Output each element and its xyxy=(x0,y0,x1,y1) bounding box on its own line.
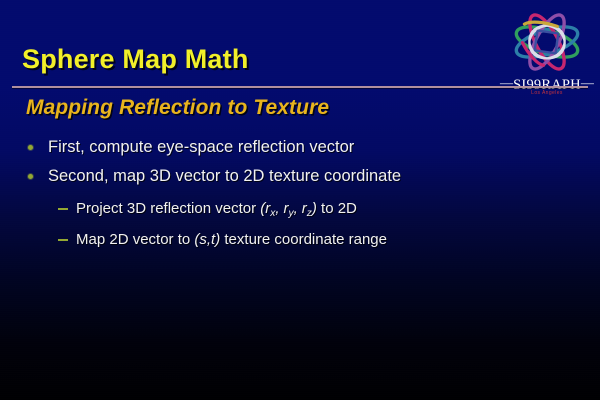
bullet-list: First, compute eye-space reflection vect… xyxy=(0,136,600,255)
bullet-dot-icon xyxy=(28,174,33,179)
sub-bullet-text-pre: Project 3D reflection vector xyxy=(76,200,260,217)
vector-sep-1: , xyxy=(275,200,279,217)
siggraph-location: Los Angeles xyxy=(498,91,596,96)
sub-bullet-item: Map 2D vector to (s,t) texture coordinat… xyxy=(0,229,600,250)
bullet-text: Second, map 3D vector to 2D texture coor… xyxy=(48,167,401,185)
bullet-item: First, compute eye-space reflection vect… xyxy=(0,136,600,158)
bullet-item: Second, map 3D vector to 2D texture coor… xyxy=(0,165,600,187)
siggraph-logo-mark xyxy=(506,6,588,78)
texcoord-notation: (s,t) xyxy=(194,231,220,248)
bullet-dot-icon xyxy=(28,145,33,150)
vector-sep-2: , xyxy=(294,200,298,217)
sub-bullet-text-post: texture coordinate range xyxy=(220,231,387,248)
slide-subtitle: Mapping Reflection to Texture xyxy=(26,96,329,120)
bullet-text: First, compute eye-space reflection vect… xyxy=(48,138,354,156)
bullet-dash-icon xyxy=(58,208,68,210)
title-divider xyxy=(12,86,588,88)
sub-bullet-text-pre: Map 2D vector to xyxy=(76,231,194,248)
bullet-dash-icon xyxy=(58,239,68,241)
slide-title: Sphere Map Math xyxy=(22,44,249,75)
presentation-slide: —SI99RAPH— Los Angeles Sphere Map Math M… xyxy=(0,0,600,400)
sub-bullet-item: Project 3D reflection vector (rx,ry,rz) … xyxy=(0,198,600,224)
vector-notation: (rx,ry,rz) xyxy=(260,200,317,217)
sub-bullet-text-post: to 2D xyxy=(317,200,357,217)
